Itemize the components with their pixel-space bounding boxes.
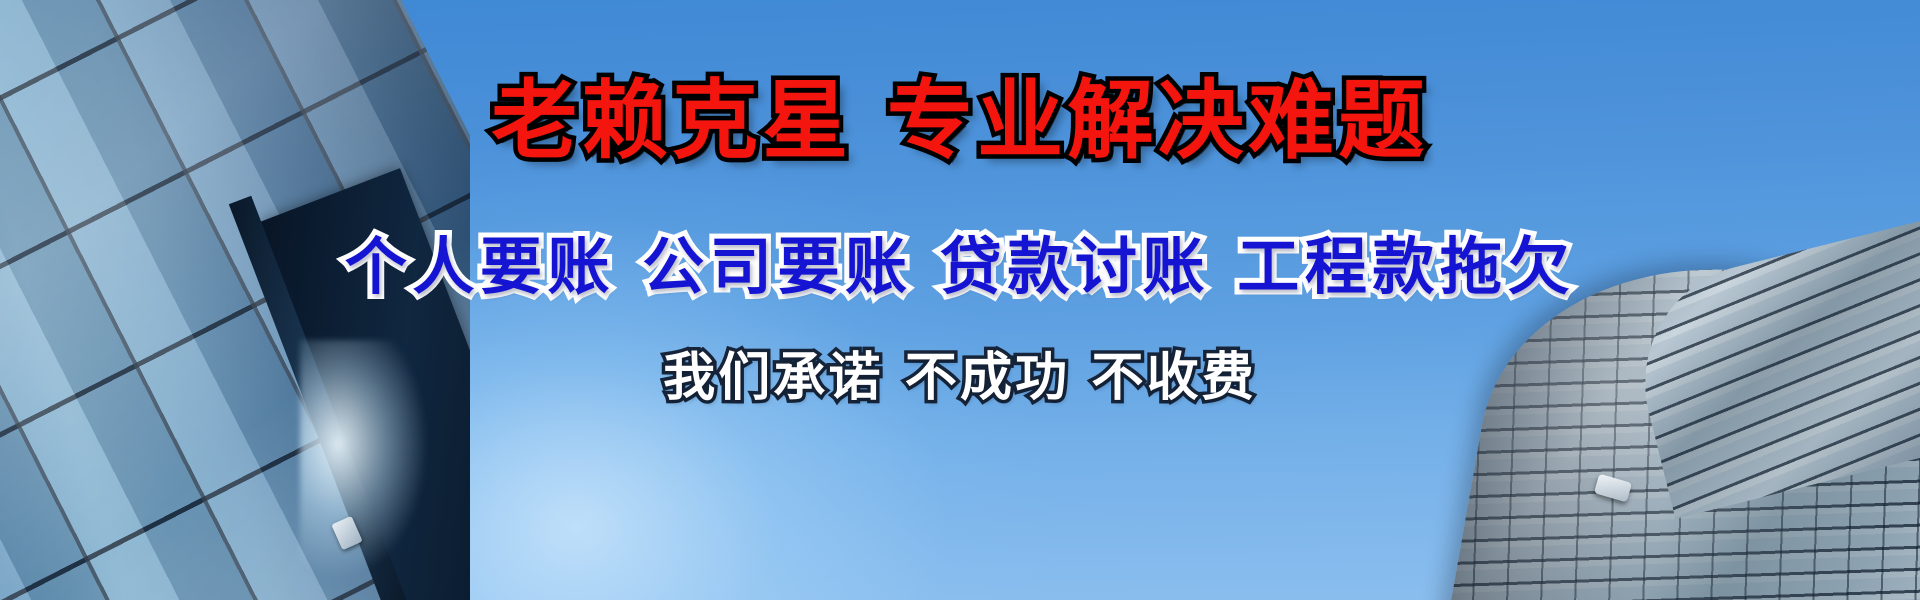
- left-building-edge-blend: [400, 0, 470, 600]
- right-building-photo: [1360, 160, 1920, 600]
- promo-banner: 老赖克星 专业解决难题 个人要账 公司要账 贷款讨账 工程款拖欠 我们承诺 不成…: [0, 0, 1920, 600]
- left-building-photo: [0, 0, 470, 600]
